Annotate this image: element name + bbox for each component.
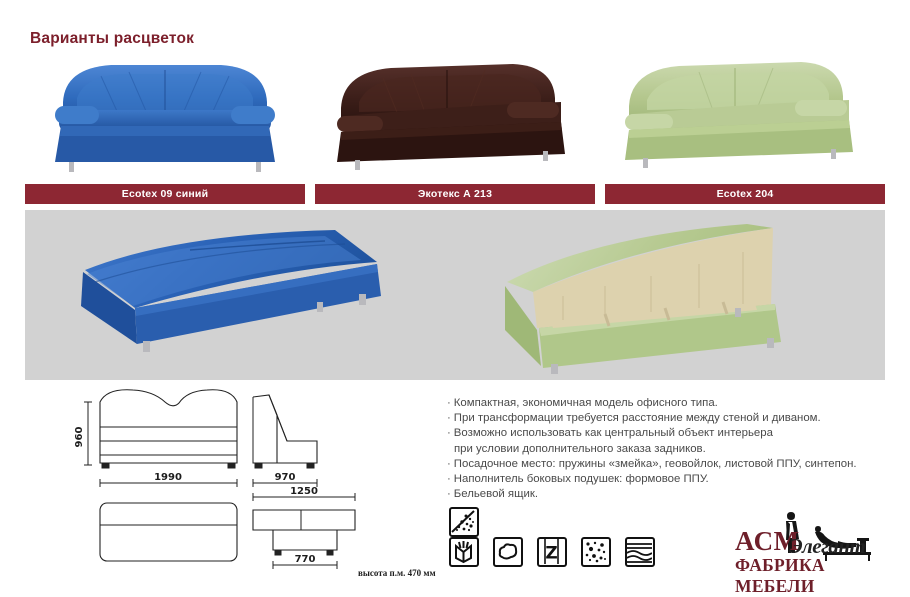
dim-front-width: 1990 <box>154 472 182 483</box>
bullet-icon: · <box>447 397 454 409</box>
variant-card-1[interactable]: Экотекс А 213 <box>315 50 595 200</box>
dim-bed-depth: 770 <box>295 554 316 565</box>
dim-bed-width: 1250 <box>290 486 318 497</box>
showcase-panel <box>25 210 885 380</box>
page-title: Варианты расцветок <box>30 30 194 48</box>
variant-card-2[interactable]: Ecotex 204 <box>605 50 885 200</box>
sofa-photo-brown <box>315 50 595 178</box>
feature-item-4: ·Посадочное место: пружины «змейка», гео… <box>447 457 877 472</box>
sofa-storage-open-green <box>455 210 885 380</box>
bullet-icon: · <box>447 473 454 485</box>
feature-item-5: ·Наполнитель боковых подушек: формовое П… <box>447 472 877 487</box>
two-tone-upholstery-box <box>449 507 479 537</box>
dim-side-depth: 970 <box>275 472 296 483</box>
feature-text-5: Наполнитель боковых подушек: формовое ПП… <box>454 473 709 485</box>
catalog-page: Варианты расцветок <box>0 0 910 587</box>
sintepon-granules-icon <box>581 537 611 567</box>
company-logo[interactable]: АСМ Элегант ФАБРИКА МЕБЕЛИ <box>735 508 895 580</box>
feature-item-3: при условии дополнительного заказа задни… <box>447 442 877 457</box>
feature-text-3: при условии дополнительного заказа задни… <box>454 443 706 455</box>
geotextile-flower-icon <box>449 537 479 567</box>
molded-foam-ppu-icon <box>493 537 523 567</box>
z-glyph: Z <box>545 544 557 564</box>
bullet-icon: · <box>447 412 454 424</box>
bullet-icon: · <box>447 458 454 470</box>
logo-subtitle: ФАБРИКА МЕБЕЛИ <box>735 555 895 597</box>
sofa-illustration-green <box>605 50 885 178</box>
feature-text-2: Возможно использовать как центральный об… <box>454 427 773 439</box>
material-pictograms-row: Z <box>449 537 655 567</box>
variant-card-0[interactable]: Ecotex 09 синий <box>25 50 305 200</box>
feature-item-1: ·При трансформации требуется расстояние … <box>447 411 877 426</box>
unfolded-bed-illustration <box>25 210 455 380</box>
sofa-photo-blue <box>25 50 305 178</box>
seat-height-note: высота п.м. 470 мм <box>358 568 436 578</box>
feature-text-0: Компактная, экономичная модель офисного … <box>454 397 718 409</box>
variant-caption-0: Ecotex 09 синий <box>25 184 305 204</box>
variant-caption-1: Экотекс А 213 <box>315 184 595 204</box>
sofa-illustration-blue <box>25 50 305 178</box>
feature-item-2: ·Возможно использовать как центральный о… <box>447 426 877 441</box>
feature-item-0: ·Компактная, экономичная модель офисного… <box>447 396 877 411</box>
variant-caption-2: Ecotex 204 <box>605 184 885 204</box>
feature-text-6: Бельевой ящик. <box>454 488 538 500</box>
sofa-photo-green <box>605 50 885 178</box>
technical-drawings: 960 1990 970 1250 770 <box>55 385 435 580</box>
feature-text-4: Посадочное место: пружины «змейка», геов… <box>454 458 857 470</box>
feature-item-6: ·Бельевой ящик. <box>447 487 877 502</box>
two-tone-upholstery-icon <box>449 507 479 537</box>
feature-text-1: При трансформации требуется расстояние м… <box>454 412 821 424</box>
dim-front-height: 960 <box>74 427 85 448</box>
bullet-icon: · <box>447 427 454 439</box>
bullet-icon: · <box>447 488 454 500</box>
serpentine-spring-z-icon: Z <box>537 537 567 567</box>
features-list: ·Компактная, экономичная модель офисного… <box>447 396 877 502</box>
sofa-illustration-brown <box>315 50 595 178</box>
storage-box-illustration <box>455 210 885 380</box>
layered-filling-icon <box>625 537 655 567</box>
color-variants-row: Ecotex 09 синий <box>25 50 885 200</box>
dimension-drawings-svg: 960 1990 970 1250 770 <box>55 385 435 580</box>
sofa-unfolded-bed-blue <box>25 210 455 380</box>
